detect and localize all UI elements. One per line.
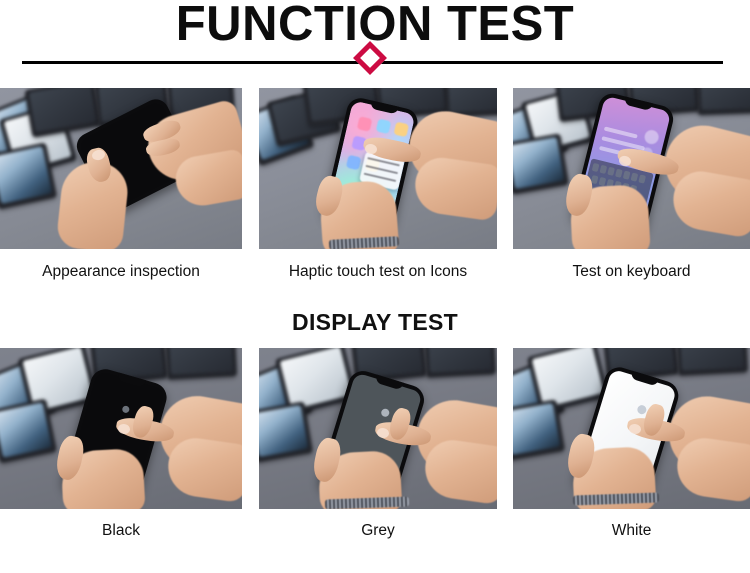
photo-display-grey: [259, 348, 497, 509]
photo-keyboard-test: [513, 88, 750, 249]
background-phone-unit: [696, 88, 750, 115]
app-icon: [357, 116, 373, 132]
avatar-bubble: [643, 129, 660, 146]
photo-image: [259, 348, 497, 509]
background-phone-unit: [676, 348, 748, 376]
caption-appearance-inspection: Appearance inspection: [0, 262, 242, 282]
app-icon: [346, 155, 362, 171]
photo-haptic-touch-test: [259, 88, 497, 249]
photo-display-white: [513, 348, 750, 509]
section-title-display-test: DISPLAY TEST: [0, 307, 750, 337]
message-line: [604, 126, 638, 138]
app-icon: [393, 122, 409, 138]
background-phone-unit: [259, 401, 313, 462]
caption-haptic-touch-test: Haptic touch test on Icons: [259, 262, 497, 282]
background-phone-unit: [165, 348, 237, 380]
photo-display-black: [0, 348, 242, 509]
page-title: FUNCTION TEST: [0, 0, 750, 52]
app-icon: [376, 119, 392, 135]
screen-dot: [121, 405, 130, 414]
caption-display-white: White: [513, 521, 750, 541]
caption-display-grey: Grey: [259, 521, 497, 541]
photo-image: [0, 88, 242, 249]
background-phone-unit: [513, 133, 569, 194]
background-phone-unit: [513, 399, 565, 460]
caption-keyboard-test: Test on keyboard: [513, 262, 750, 282]
caption-display-black: Black: [0, 521, 242, 541]
screen-dot: [380, 408, 390, 418]
photo-image: [259, 88, 497, 249]
photo-image: [513, 88, 750, 249]
background-phone-unit: [424, 348, 496, 378]
photo-image: [0, 348, 242, 509]
photo-appearance-inspection: [0, 88, 242, 249]
photo-image: [513, 348, 750, 509]
